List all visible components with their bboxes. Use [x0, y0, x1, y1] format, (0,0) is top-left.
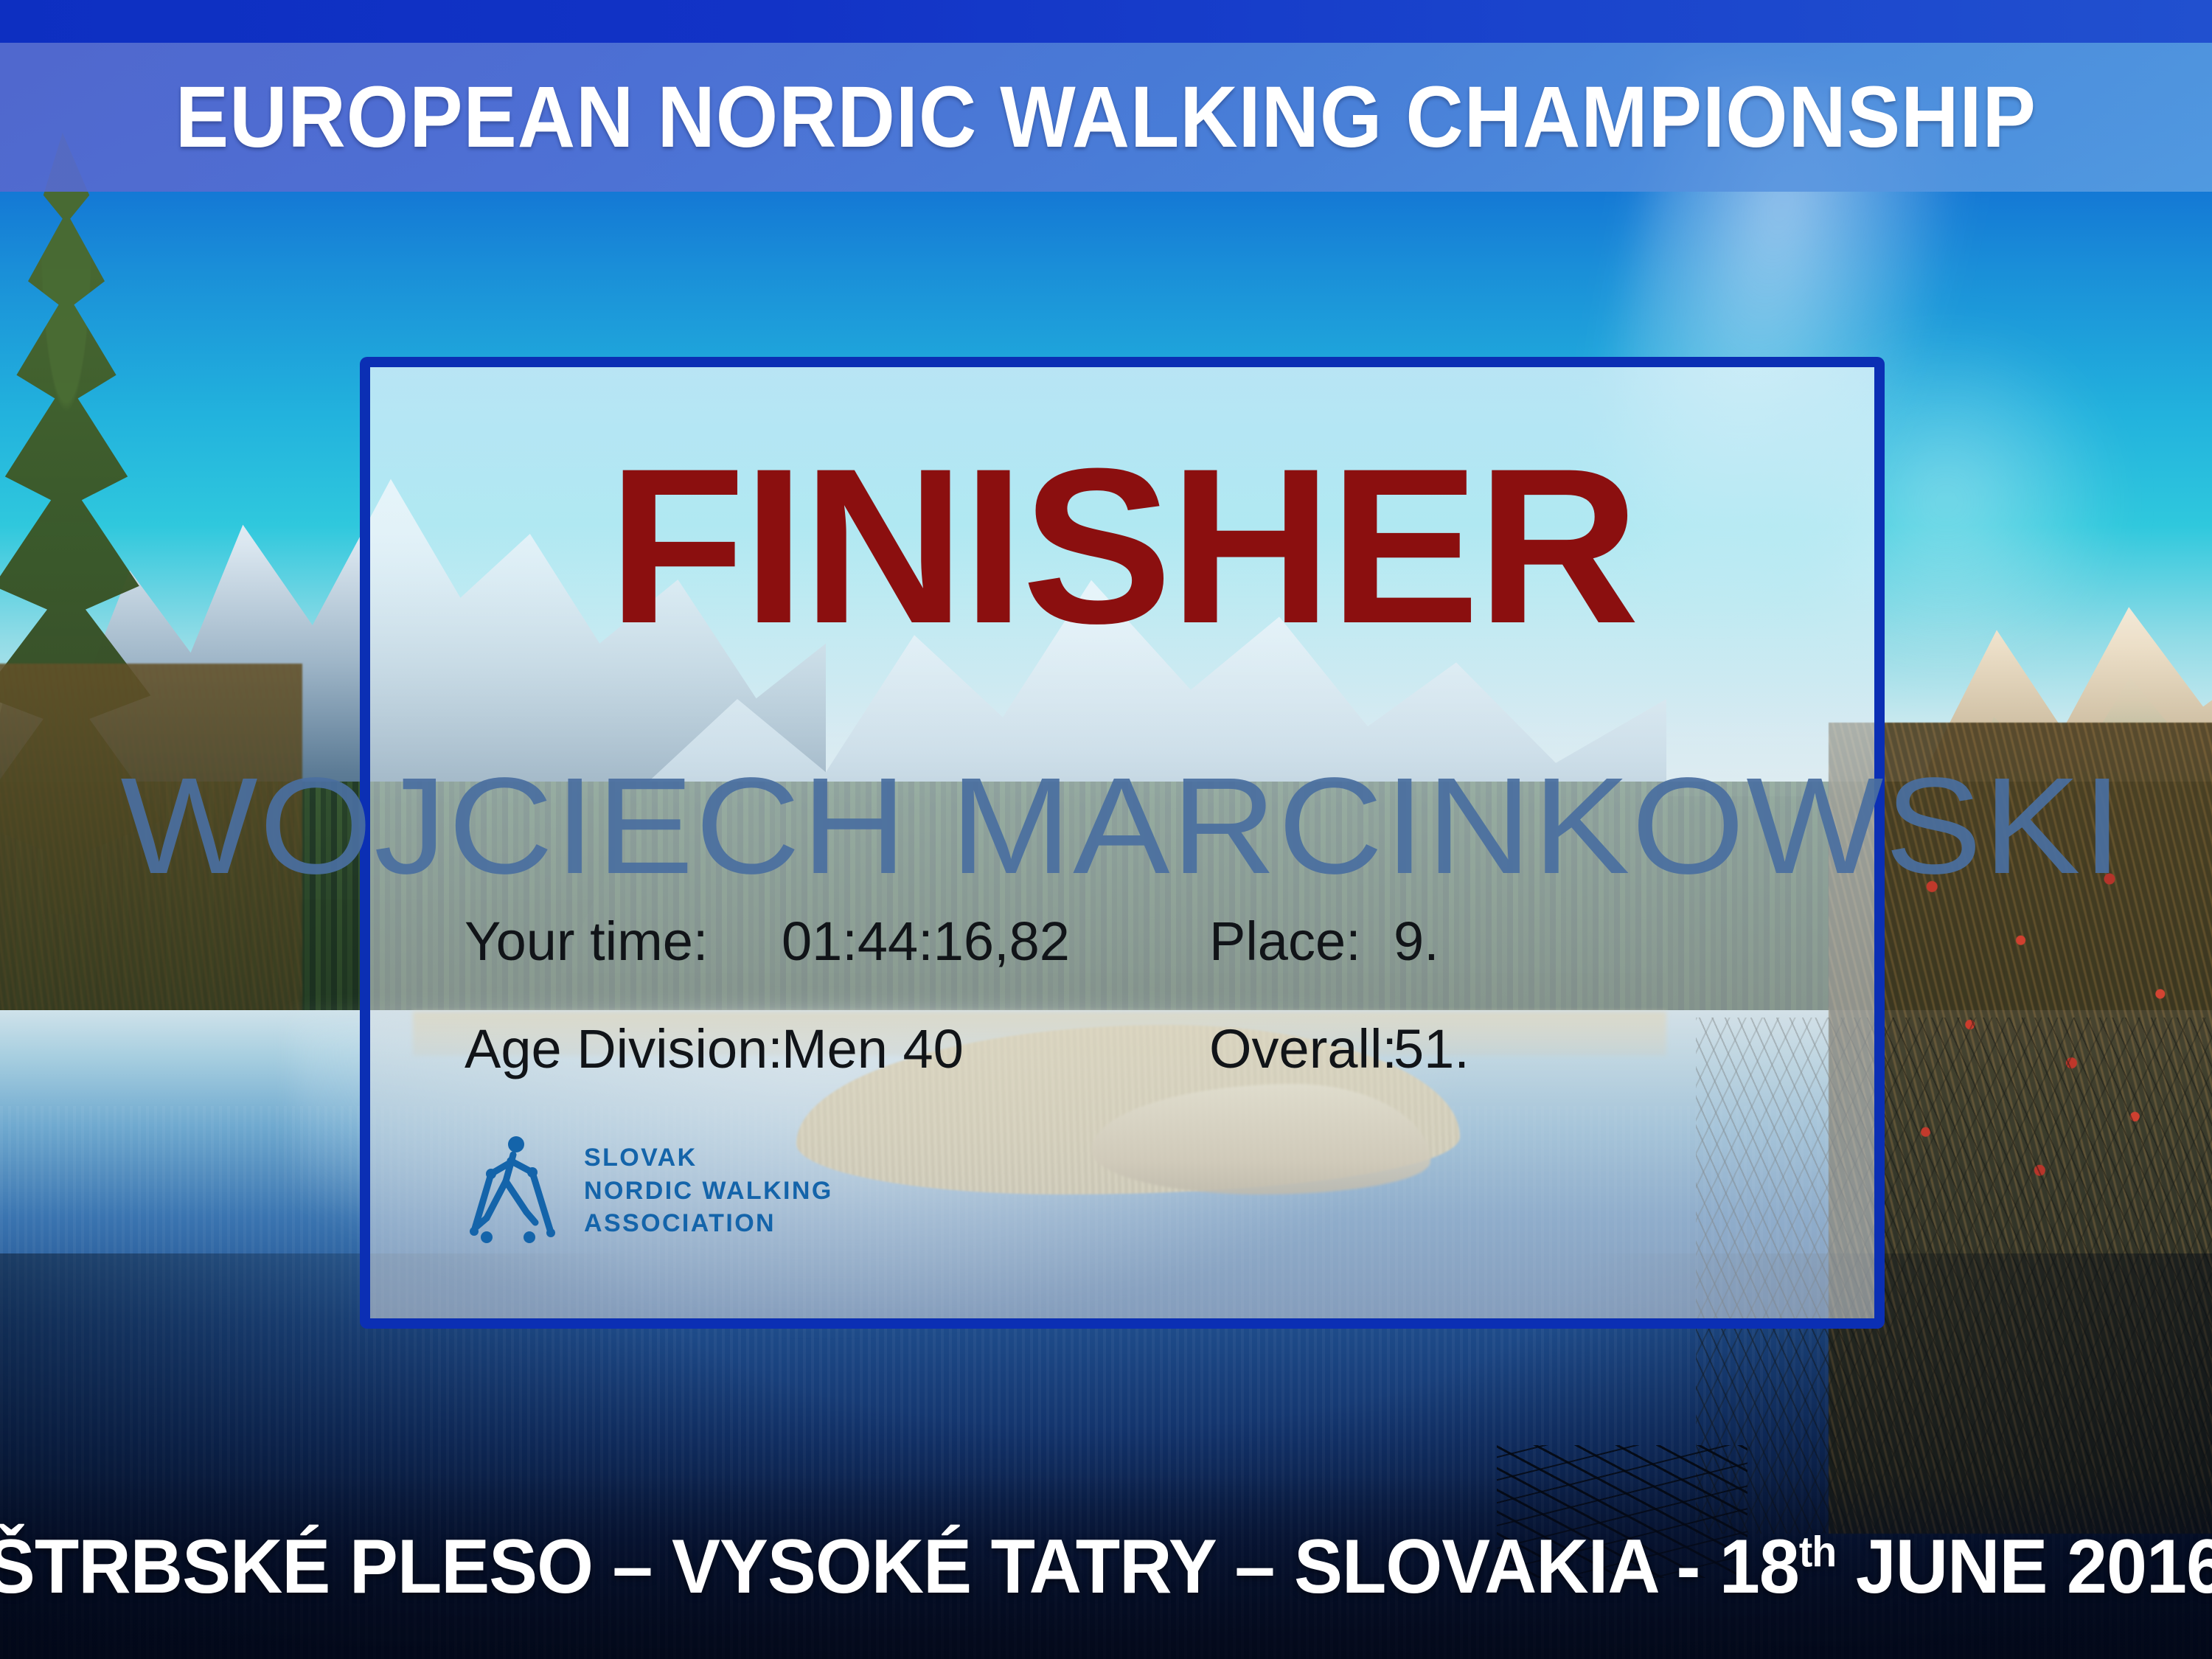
status-title: FINISHER: [355, 435, 1890, 656]
certificate-card: FINISHER WOJCIECH MARCINKOWSKI Your time…: [360, 357, 1885, 1329]
result-row: Your time: 01:44:16,82 Place: 9.: [465, 914, 1762, 969]
place-value: 9.: [1394, 914, 1439, 969]
logo-line-1: SLOVAK: [584, 1141, 833, 1175]
header-top-strip: [0, 0, 2212, 43]
footer-banner: ŠTRBSKÉ PLESO – VYSOKÉ TATRY – SLOVAKIA …: [0, 1475, 2212, 1659]
ordinal-suffix: th: [1798, 1528, 1835, 1576]
nordic-walker-icon: [465, 1135, 568, 1246]
logo-line-3: ASSOCIATION: [584, 1207, 833, 1240]
venue-text: ŠTRBSKÉ PLESO – VYSOKÉ TATRY – SLOVAKIA …: [0, 1524, 1798, 1610]
place-label: Place:: [1209, 914, 1394, 969]
association-logo: SLOVAK NORDIC WALKING ASSOCIATION: [465, 1135, 833, 1246]
venue-date-line: ŠTRBSKÉ PLESO – VYSOKÉ TATRY – SLOVAKIA …: [0, 1523, 2212, 1611]
overall-label: Overall:: [1209, 1022, 1394, 1077]
overall-value: 51.: [1394, 1022, 1470, 1077]
association-logo-text: SLOVAK NORDIC WALKING ASSOCIATION: [584, 1141, 833, 1241]
certificate-page: EUROPEAN NORDIC WALKING CHAMPIONSHIP FIN…: [0, 0, 2212, 1659]
age-division-label: Age Division:: [465, 1022, 782, 1077]
date-text: JUNE 2016: [1836, 1524, 2212, 1610]
your-time-value: 01:44:16,82: [782, 914, 1209, 969]
age-division-value: Men 40: [782, 1022, 1209, 1077]
logo-line-2: NORDIC WALKING: [584, 1175, 833, 1208]
event-title: EUROPEAN NORDIC WALKING CHAMPIONSHIP: [175, 74, 2037, 161]
result-row: Age Division: Men 40 Overall: 51.: [465, 1022, 1762, 1077]
athlete-name: WOJCIECH MARCINKOWSKI: [0, 758, 2212, 895]
your-time-label: Your time:: [465, 914, 782, 969]
results-block: Your time: 01:44:16,82 Place: 9. Age Div…: [465, 914, 1762, 1130]
header-banner: EUROPEAN NORDIC WALKING CHAMPIONSHIP: [0, 43, 2212, 192]
